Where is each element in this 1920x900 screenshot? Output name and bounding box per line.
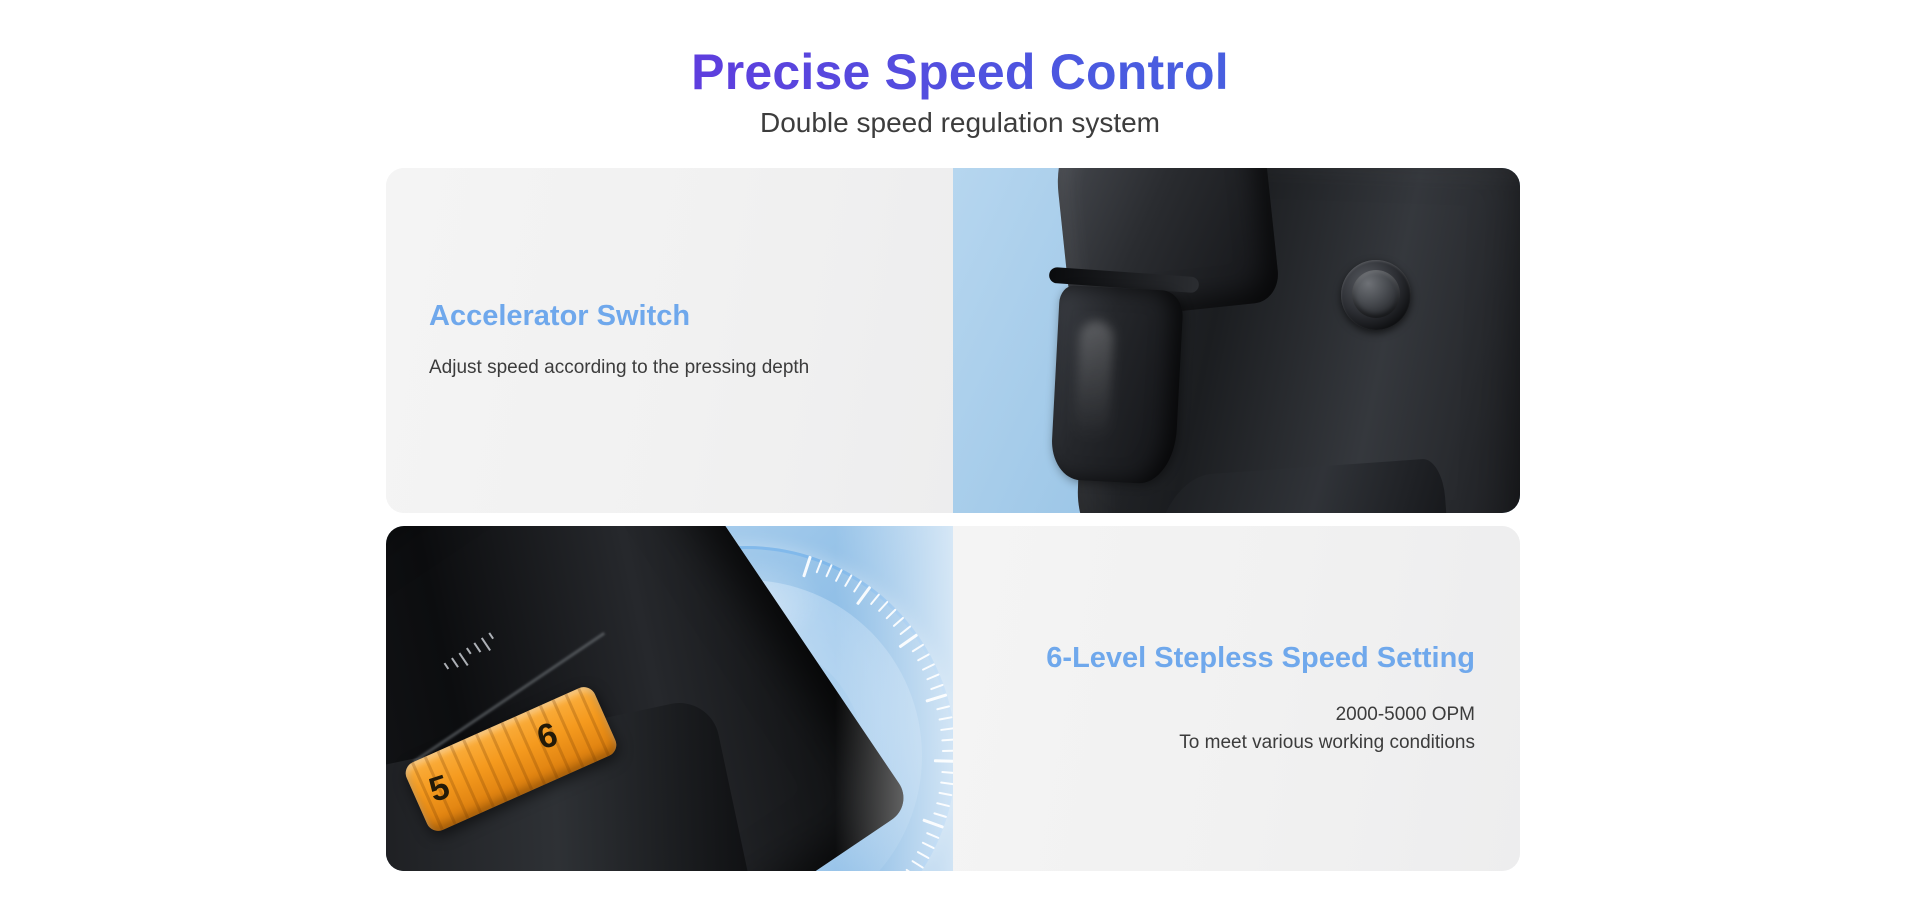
wheel-rib: [564, 693, 597, 762]
card-description: Adjust speed according to the pressing d…: [429, 354, 809, 382]
wheel-rib: [475, 733, 508, 802]
wheel-rib: [501, 722, 534, 791]
wheel-rib: [462, 739, 495, 808]
card-description-line: To meet various working conditions: [1179, 729, 1475, 757]
product-feature-page: Precise Speed Control Double speed regul…: [0, 0, 1920, 900]
page-subtitle: Double speed regulation system: [0, 106, 1920, 140]
card-heading: 6-Level Stepless Speed Setting: [1046, 641, 1475, 676]
card-heading: Accelerator Switch: [429, 299, 690, 334]
speed-dial-photo: 54321 5 6: [386, 526, 953, 871]
power-button-icon: [1352, 270, 1400, 318]
wheel-rib: [488, 728, 521, 797]
feature-card-accelerator-switch: Accelerator Switch Adjust speed accordin…: [386, 168, 1520, 513]
power-button-bezel: [1341, 260, 1411, 330]
card-text-pane: 6-Level Stepless Speed Setting 2000-5000…: [953, 526, 1520, 871]
wheel-number-6: 6: [533, 715, 563, 758]
feature-card-list: Accelerator Switch Adjust speed accordin…: [386, 168, 1520, 871]
card-description-line: Adjust speed according to the pressing d…: [429, 357, 809, 378]
card-description: 2000-5000 OPM To meet various working co…: [1179, 701, 1475, 756]
card-description-line: 2000-5000 OPM: [1336, 704, 1475, 725]
card-text-pane: Accelerator Switch Adjust speed accordin…: [386, 168, 953, 513]
page-title: Precise Speed Control: [0, 44, 1920, 100]
trigger-switch-shape: [1050, 285, 1184, 485]
accelerator-trigger-photo: [953, 168, 1520, 513]
feature-card-speed-setting: 54321 5 6 6-Level Stepless Speed Setting…: [386, 526, 1520, 871]
page-header: Precise Speed Control Double speed regul…: [0, 0, 1920, 140]
